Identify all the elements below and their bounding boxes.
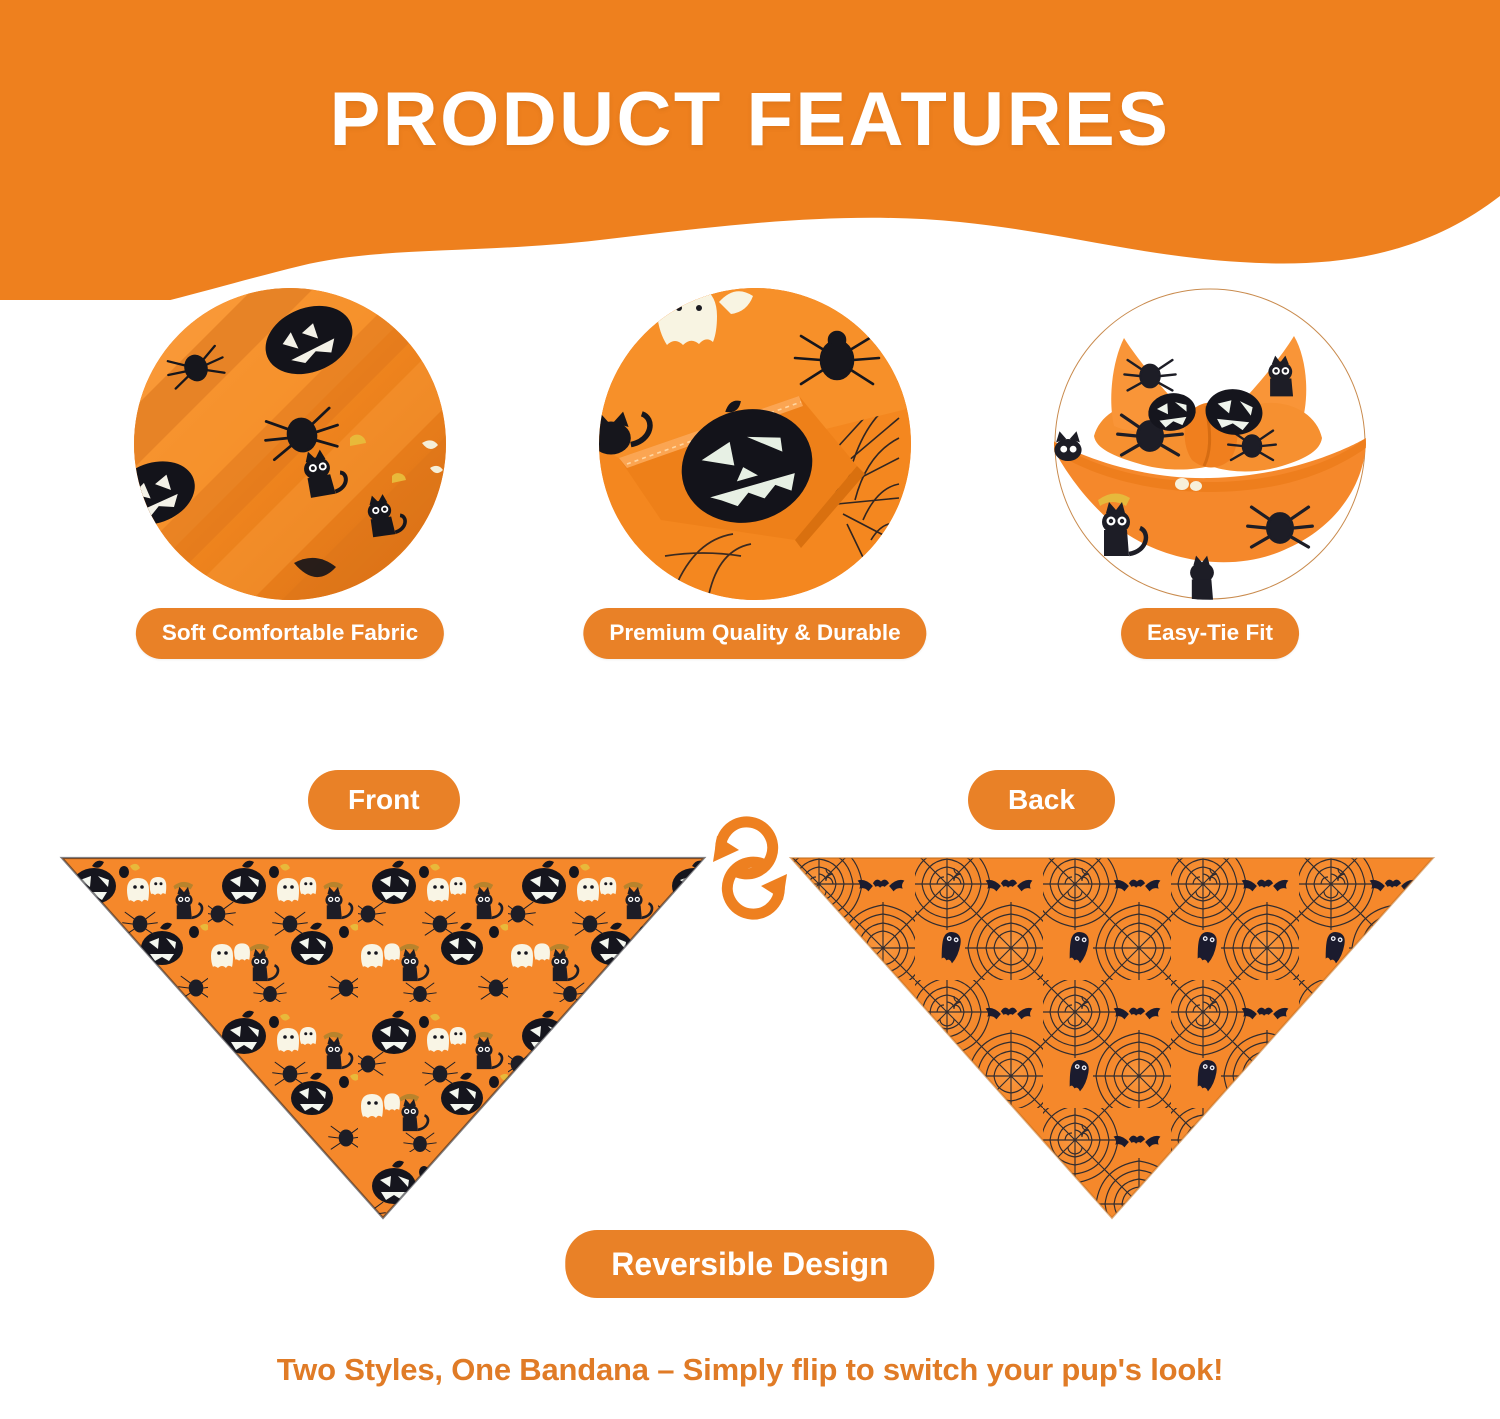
feature-soft-comfortable-fabric: Soft Comfortable Fabric — [120, 288, 460, 678]
page-title: PRODUCT FEATURES — [0, 0, 1500, 238]
stitched-corner-illustration — [599, 288, 911, 600]
infographic-page: PRODUCT FEATURES — [0, 0, 1500, 1419]
feature-easy-tie-fit: Easy-Tie Fit — [1040, 288, 1380, 678]
feature-label-easy-tie-fit: Easy-Tie Fit — [1121, 608, 1299, 659]
feature-row: Soft Comfortable Fabric — [0, 288, 1500, 678]
footer-tagline: Two Styles, One Bandana – Simply flip to… — [0, 1352, 1500, 1388]
header-banner: PRODUCT FEATURES — [0, 0, 1500, 300]
feature-image-premium-quality — [599, 288, 911, 600]
bandana-back-image — [787, 852, 1437, 1227]
feature-label-soft-comfortable-fabric: Soft Comfortable Fabric — [136, 608, 444, 659]
front-side-label: Front — [308, 770, 460, 830]
bandana-front-image — [58, 852, 708, 1227]
reversible-design-label: Reversible Design — [565, 1230, 934, 1298]
back-pattern-triangle — [787, 852, 1437, 1227]
feature-label-premium-quality-durable: Premium Quality & Durable — [583, 608, 926, 659]
feature-image-soft-fabric — [134, 288, 446, 600]
fabric-folds-illustration — [134, 288, 446, 600]
tied-knot-illustration — [1054, 288, 1366, 600]
back-side-label: Back — [968, 770, 1115, 830]
front-pattern-triangle — [58, 852, 708, 1227]
feature-image-easy-tie-fit — [1054, 288, 1366, 600]
reversible-section: Front Back — [0, 760, 1500, 1320]
feature-premium-quality-durable: Premium Quality & Durable — [585, 288, 925, 678]
